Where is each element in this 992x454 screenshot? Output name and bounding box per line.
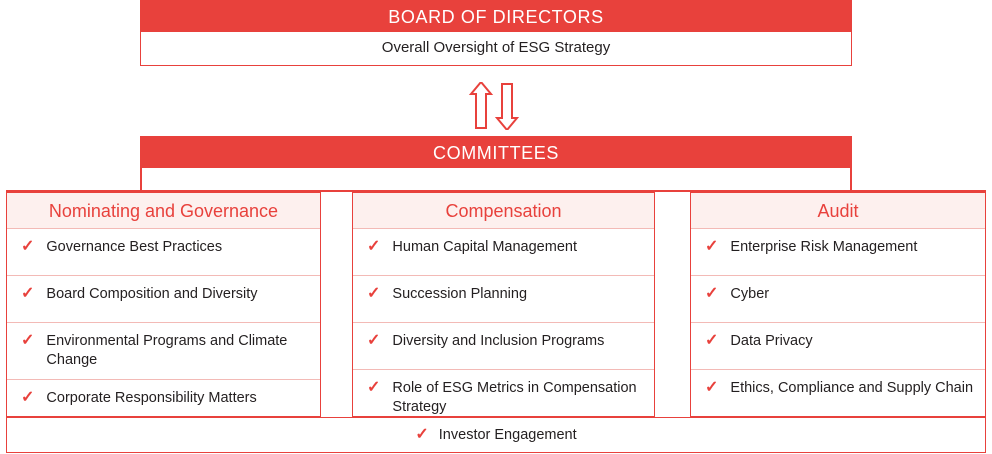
column-header: Nominating and Governance — [7, 193, 320, 229]
check-icon: ✓ — [21, 238, 34, 256]
list-item-label: Human Capital Management — [392, 238, 577, 257]
list-item-label: Ethics, Compliance and Supply Chain — [730, 379, 973, 398]
list-item[interactable]: ✓ Human Capital Management — [353, 229, 654, 276]
check-icon: ✓ — [21, 332, 34, 350]
list-item[interactable]: ✓ Governance Best Practices — [7, 229, 320, 276]
list-item-label: Role of ESG Metrics in Compensation Stra… — [392, 379, 644, 417]
board-of-directors-block: BOARD OF DIRECTORS Overall Oversight of … — [140, 0, 852, 66]
list-item[interactable]: ✓ Succession Planning — [353, 276, 654, 323]
check-icon: ✓ — [705, 332, 718, 350]
column-item-list: ✓ Governance Best Practices ✓ Board Comp… — [7, 229, 320, 427]
check-icon: ✓ — [367, 332, 380, 350]
list-item[interactable]: ✓ Data Privacy — [691, 323, 985, 370]
investor-engagement-label: Investor Engagement — [439, 426, 577, 445]
check-icon: ✓ — [367, 379, 380, 397]
list-item[interactable]: ✓ Board Composition and Diversity — [7, 276, 320, 323]
list-item-label: Corporate Responsibility Matters — [46, 389, 256, 408]
list-item-label: Enterprise Risk Management — [730, 238, 917, 257]
column-nominating-and-governance: Nominating and Governance ✓ Governance B… — [6, 192, 321, 417]
check-icon: ✓ — [21, 389, 34, 407]
list-item[interactable]: ✓ Cyber — [691, 276, 985, 323]
check-icon: ✓ — [367, 238, 380, 256]
column-header: Compensation — [353, 193, 654, 229]
list-item[interactable]: ✓ Enterprise Risk Management — [691, 229, 985, 276]
column-audit: Audit ✓ Enterprise Risk Management ✓ Cyb… — [690, 192, 986, 417]
column-compensation: Compensation ✓ Human Capital Management … — [352, 192, 655, 417]
check-icon: ✓ — [705, 285, 718, 303]
investor-engagement-bar[interactable]: ✓ Investor Engagement — [6, 417, 986, 453]
list-item-label: Governance Best Practices — [46, 238, 222, 257]
board-subtitle: Overall Oversight of ESG Strategy — [140, 32, 852, 66]
up-down-arrows-icon — [467, 82, 525, 130]
list-item-label: Data Privacy — [730, 332, 812, 351]
list-item-label: Environmental Programs and Climate Chang… — [46, 332, 310, 370]
connector-right-vertical — [850, 168, 852, 192]
column-header: Audit — [691, 193, 985, 229]
list-item[interactable]: ✓ Diversity and Inclusion Programs — [353, 323, 654, 370]
check-icon: ✓ — [705, 238, 718, 256]
check-icon: ✓ — [705, 379, 718, 397]
column-item-list: ✓ Human Capital Management ✓ Succession … — [353, 229, 654, 426]
check-icon: ✓ — [367, 285, 380, 303]
check-icon: ✓ — [21, 285, 34, 303]
committees-block: COMMITTEES — [140, 136, 852, 168]
list-item-label: Diversity and Inclusion Programs — [392, 332, 604, 351]
board-title: BOARD OF DIRECTORS — [140, 0, 852, 32]
check-icon: ✓ — [415, 426, 428, 444]
column-item-list: ✓ Enterprise Risk Management ✓ Cyber ✓ D… — [691, 229, 985, 426]
list-item-label: Board Composition and Diversity — [46, 285, 257, 304]
connector-left-vertical — [140, 168, 142, 192]
list-item[interactable]: ✓ Environmental Programs and Climate Cha… — [7, 323, 320, 380]
list-item-label: Cyber — [730, 285, 769, 304]
committees-title: COMMITTEES — [140, 136, 852, 168]
list-item-label: Succession Planning — [392, 285, 527, 304]
